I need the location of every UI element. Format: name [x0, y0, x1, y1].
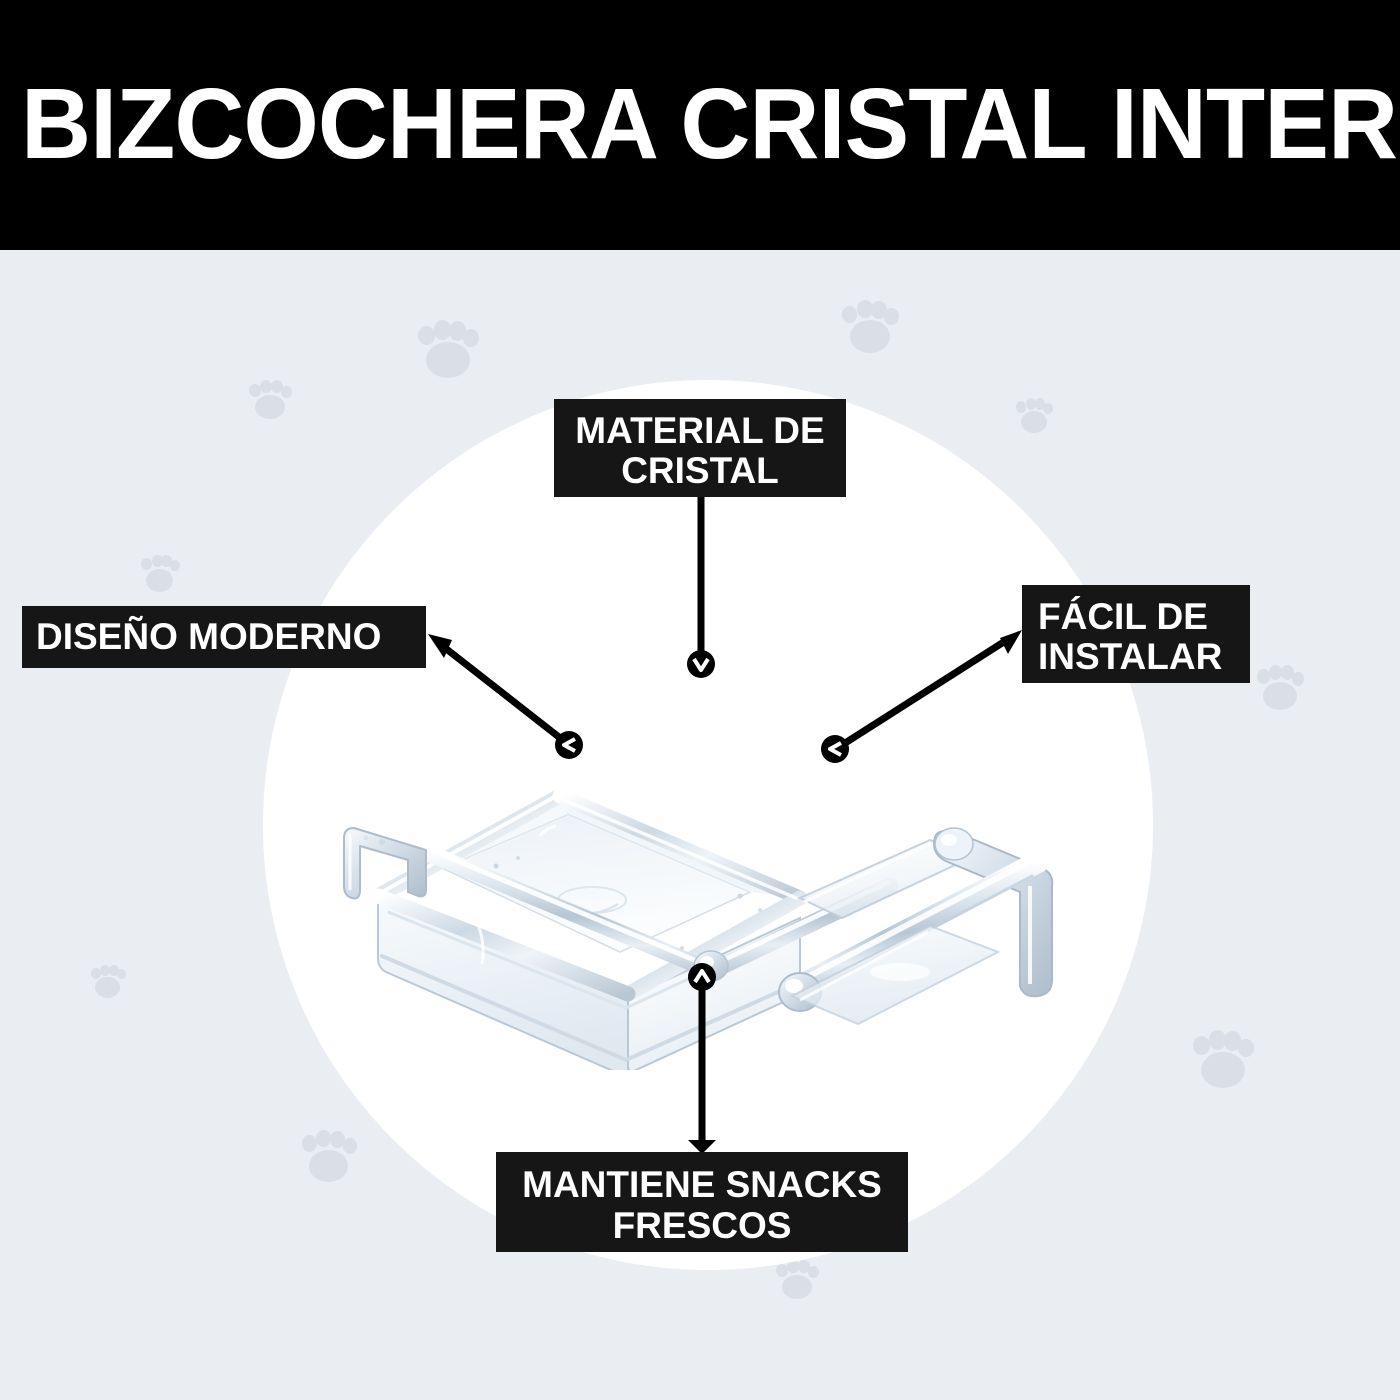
paw-print-icon [1190, 1030, 1256, 1092]
product-image [330, 600, 1070, 1070]
callout-facil-line2: INSTALAR [1038, 637, 1250, 677]
callout-diseno-line1: DISEÑO MODERNO [36, 616, 412, 658]
page-title: BIZCOCHERA CRISTAL INTERIOR [21, 72, 1379, 176]
infographic-page: MATERIAL DE CRISTAL DISEÑO MODERNO FÁCIL… [0, 0, 1400, 1400]
callout-material-de-cristal[interactable]: MATERIAL DE CRISTAL [554, 399, 846, 497]
paw-print-icon [140, 555, 180, 593]
paw-print-icon [90, 965, 126, 999]
callout-diseno-moderno[interactable]: DISEÑO MODERNO [22, 606, 426, 668]
paw-print-icon [840, 300, 900, 356]
callout-material-line1: MATERIAL DE [564, 411, 836, 451]
paw-print-icon [1255, 665, 1305, 712]
callout-facil-de-instalar[interactable]: FÁCIL DE INSTALAR [1022, 585, 1250, 683]
callout-facil-line1: FÁCIL DE [1038, 597, 1250, 637]
callout-mantiene-snacks-frescos[interactable]: MANTIENE SNACKS FRESCOS [496, 1152, 908, 1252]
paw-print-icon [248, 380, 292, 421]
paw-print-icon [415, 320, 481, 382]
callout-mantiene-line1: MANTIENE SNACKS [506, 1164, 898, 1205]
header-bar: BIZCOCHERA CRISTAL INTERIOR [0, 0, 1400, 250]
paw-print-icon [775, 1260, 819, 1301]
callout-material-line2: CRISTAL [564, 451, 836, 491]
paw-print-icon [300, 1130, 358, 1185]
callout-mantiene-line2: FRESCOS [506, 1205, 898, 1246]
paw-print-icon [1015, 398, 1053, 434]
